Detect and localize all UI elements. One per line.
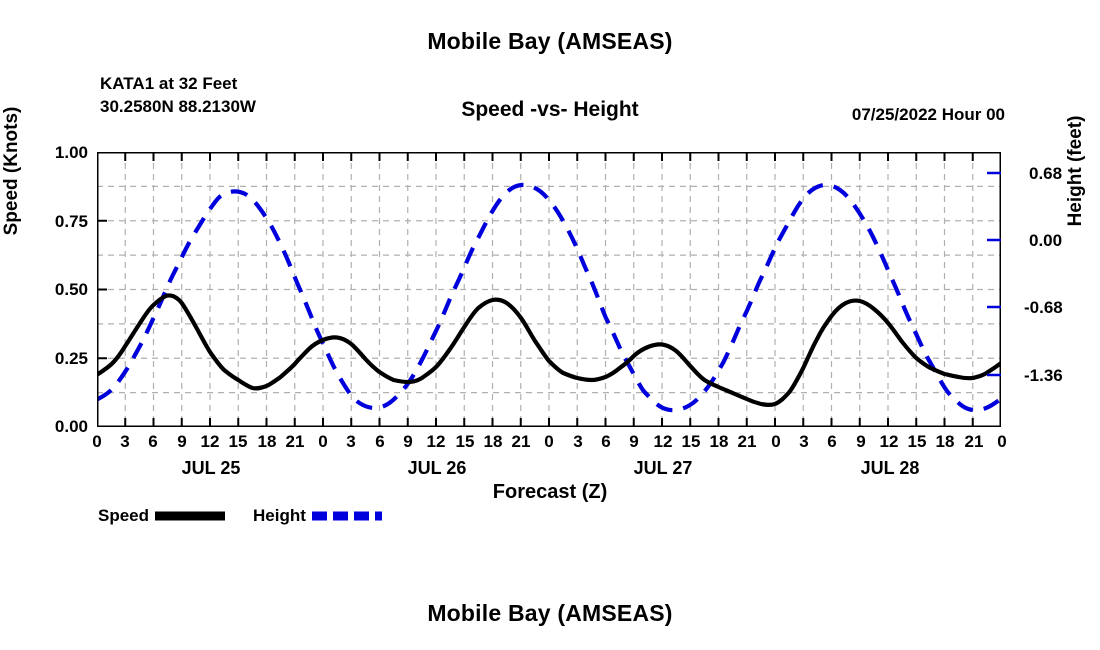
x-tick-29: 15 — [902, 432, 932, 452]
x-tick-9: 3 — [336, 432, 366, 452]
plot-area — [97, 152, 1001, 427]
x-tick-6: 18 — [252, 432, 282, 452]
x-tick-12: 12 — [421, 432, 451, 452]
day-label-jul-25: JUL 25 — [141, 458, 281, 479]
x-tick-17: 3 — [563, 432, 593, 452]
plot-svg — [97, 152, 1001, 427]
y-tick-right-0: 0.68 — [1029, 164, 1100, 184]
y-tick-left-2: 0.50 — [10, 280, 88, 300]
top-title: Mobile Bay (AMSEAS) — [0, 28, 1100, 55]
y-tick-left-4: 0.00 — [10, 417, 88, 437]
legend-label-height: Height — [253, 506, 306, 526]
x-tick-8: 0 — [308, 432, 338, 452]
x-tick-4: 12 — [195, 432, 225, 452]
x-tick-10: 6 — [365, 432, 395, 452]
x-tick-25: 3 — [789, 432, 819, 452]
x-tick-18: 6 — [591, 432, 621, 452]
x-tick-26: 6 — [817, 432, 847, 452]
x-tick-32: 0 — [987, 432, 1017, 452]
legend-swatch-speed-line — [153, 509, 227, 523]
x-tick-2: 6 — [138, 432, 168, 452]
y-tick-right-3: -1.36 — [1024, 366, 1100, 386]
legend-item-speed: Speed — [98, 506, 253, 526]
chart-legend: Speed Height — [98, 505, 410, 527]
x-tick-31: 21 — [959, 432, 989, 452]
x-tick-13: 15 — [450, 432, 480, 452]
y-tick-left-3: 0.25 — [10, 349, 88, 369]
y-tick-left-1: 0.75 — [10, 212, 88, 232]
x-tick-23: 21 — [732, 432, 762, 452]
x-tick-5: 15 — [223, 432, 253, 452]
x-tick-1: 3 — [110, 432, 140, 452]
model-run-time: 07/25/2022 Hour 00 — [700, 105, 1005, 125]
day-label-jul-27: JUL 27 — [593, 458, 733, 479]
right-axis-ticks — [987, 173, 1001, 375]
day-label-jul-28: JUL 28 — [820, 458, 960, 479]
y-tick-right-1: 0.00 — [1029, 231, 1100, 251]
x-tick-30: 18 — [930, 432, 960, 452]
chart-figure: Mobile Bay (AMSEAS) KATA1 at 32 Feet 30.… — [0, 0, 1100, 650]
y-tick-right-2: -0.68 — [1024, 298, 1100, 318]
station-name-depth: KATA1 at 32 Feet — [100, 72, 430, 95]
x-tick-28: 12 — [874, 432, 904, 452]
x-tick-21: 15 — [676, 432, 706, 452]
x-tick-27: 9 — [846, 432, 876, 452]
x-tick-19: 9 — [619, 432, 649, 452]
x-tick-20: 12 — [648, 432, 678, 452]
y-tick-left-0: 1.00 — [10, 143, 88, 163]
bottom-title: Mobile Bay (AMSEAS) — [0, 600, 1100, 627]
x-tick-14: 18 — [478, 432, 508, 452]
y-axis-left-label: Speed (Knots) — [1, 41, 23, 301]
x-tick-24: 0 — [761, 432, 791, 452]
legend-label-speed: Speed — [98, 506, 149, 526]
x-tick-22: 18 — [704, 432, 734, 452]
legend-swatch-height-line — [310, 509, 384, 523]
x-tick-16: 0 — [534, 432, 564, 452]
legend-item-height: Height — [253, 506, 410, 526]
x-tick-11: 9 — [393, 432, 423, 452]
x-tick-3: 9 — [167, 432, 197, 452]
x-tick-0: 0 — [82, 432, 112, 452]
x-axis-label: Forecast (Z) — [330, 481, 770, 504]
x-tick-7: 21 — [280, 432, 310, 452]
x-tick-15: 21 — [506, 432, 536, 452]
day-label-jul-26: JUL 26 — [367, 458, 507, 479]
